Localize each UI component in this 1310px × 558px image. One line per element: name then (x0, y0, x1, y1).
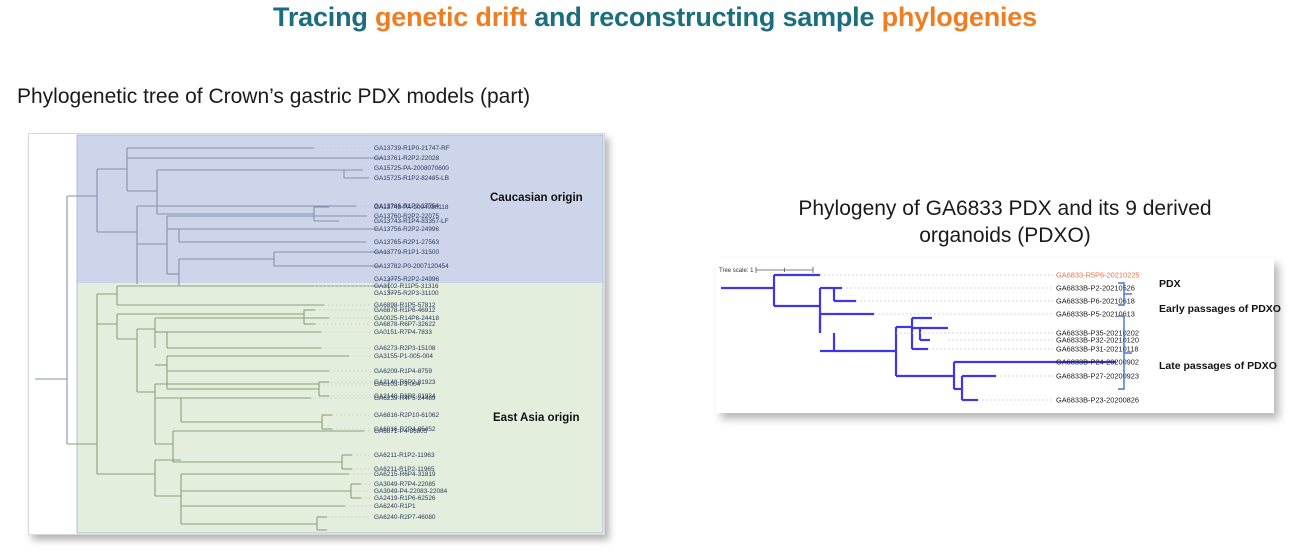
tree-leaf-label: GA13775-R2P2-24996 (374, 276, 439, 283)
tree-leaf-label: GA6215-R6P4-31819 (374, 471, 436, 478)
tree-leaf-label: GA6816-R2P10-61062 (374, 412, 439, 419)
early-passages-annotation-label: Early passages of PDXO (1159, 303, 1281, 315)
tree-leaf-label: GA13760-R2P2-22075 (374, 213, 439, 220)
tree-leaf-label: GA13756-R2P2-24996 (374, 226, 439, 233)
tree-leaf-label: GA6833B-P27-20200923 (1056, 372, 1139, 381)
tree-leaf-label: GA13766-R1P2-27754 (374, 203, 439, 210)
tree-leaf-label: GA6239-R4P5-24489 (374, 395, 436, 402)
tree-leaf-label: GA6833-R5P6-20210225 (1056, 271, 1139, 280)
title-segment-4: phylogenies (882, 2, 1037, 32)
page-title: Tracing genetic drift and reconstructing… (0, 2, 1310, 33)
tree-leaf-label: GA15725-PA-2008070600 (374, 165, 449, 172)
tree-leaf-label: GA6833B-P23-20200826 (1056, 396, 1139, 405)
left-panel-heading: Phylogenetic tree of Crown’s gastric PDX… (17, 85, 530, 109)
pdx-annotation-label: PDX (1159, 278, 1181, 290)
tree-leaf-label: GA15725-R1P2-82485-LB (374, 175, 449, 182)
tree-leaf-label: GA13739-R1P0-21747-RF (374, 145, 450, 152)
title-segment-2: genetic drift (375, 2, 527, 32)
tree-leaf-label: GA13782-P0-2007120454 (374, 263, 449, 270)
east-asia-origin-label: East Asia origin (493, 412, 580, 424)
right-tree-leader-lines (820, 275, 1053, 400)
tree-leaf-label: GA2419-R1P6-62526 (374, 495, 436, 502)
right-phylogeny-figure: GA6833-R5P6-20210225GA6833B-P2-20210526G… (716, 258, 1274, 413)
title-segment-1: Tracing (273, 2, 375, 32)
tree-leaf-label: GA13775-R2P3-31100 (374, 290, 439, 297)
right-panel-heading: Phylogeny of GA6833 PDX and its 9 derive… (700, 196, 1310, 250)
tree-leaf-label: GA6833B-P24-20200902 (1056, 358, 1139, 367)
tree-scale-label: Tree scale: 1 (719, 268, 753, 274)
right-tree-leaf-labels: GA6833-R5P6-20210225GA6833B-P2-20210526G… (1056, 271, 1139, 405)
right-heading-line-1: Phylogeny of GA6833 PDX and its 9 derive… (798, 197, 1211, 220)
tree-scale-bar (756, 267, 813, 273)
tree-leaf-label: GA6833B-P6-20210618 (1056, 297, 1135, 306)
caucasian-origin-label: Caucasian origin (490, 192, 583, 204)
tree-leaf-label: GA3155-P1-005-004 (374, 353, 433, 360)
tree-leaf-label: GA0151-R7P4-7833 (374, 329, 432, 336)
tree-leaf-label: GA13761-R2P2-22028 (374, 155, 439, 162)
tree-leaf-label: GA6871-P4-86805 (374, 428, 428, 435)
tree-leaf-label: GA6878-R1P6-46912 (374, 307, 436, 314)
tree-leaf-label: GA3102-R11P5-31316 (374, 283, 439, 290)
tree-leaf-label: GA6209-R1P4-8759 (374, 368, 432, 375)
tree-leaf-label: GA0103-P3-004 (374, 381, 421, 388)
tree-leaf-label: GA6833B-P32-20210120 (1056, 336, 1139, 345)
right-heading-line-2: organoids (PDXO) (919, 224, 1091, 247)
title-segment-3: and reconstructing sample (527, 2, 882, 32)
tree-leaf-label: GA6273-R2P3-15108 (374, 345, 436, 352)
tree-leaf-label: GA3049-R7P4-22085 (374, 481, 436, 488)
late-passages-annotation-label: Late passages of PDXO (1159, 360, 1277, 372)
tree-leaf-label: GA6833B-P5-20210613 (1056, 310, 1135, 319)
tree-leaf-label: GA6240-R1P1 (374, 503, 416, 510)
tree-leaf-label: GA6833B-P2-20210526 (1056, 284, 1135, 293)
tree-leaf-label: GA6211-R1P2-11963 (374, 452, 435, 459)
tree-leaf-label: GA13779-R1P1-31500 (374, 249, 439, 256)
tree-leaf-label: GA6240-R2P7-46080 (374, 514, 436, 521)
tree-leaf-label: GA0025-R14P6-24418 (374, 315, 439, 322)
tree-leaf-label: GA3049-P4-22083-22084 (374, 488, 448, 495)
tree-leaf-label: GA6833B-P31-20210118 (1056, 345, 1138, 354)
caucasian-group-background (77, 135, 603, 283)
tree-leaf-label: GA13765-R2P1-27563 (374, 239, 439, 246)
right-tree-svg: GA6833-R5P6-20210225GA6833B-P2-20210526G… (716, 258, 1274, 413)
tree-leaf-label: GA6878-R6P7-32622 (374, 321, 436, 328)
